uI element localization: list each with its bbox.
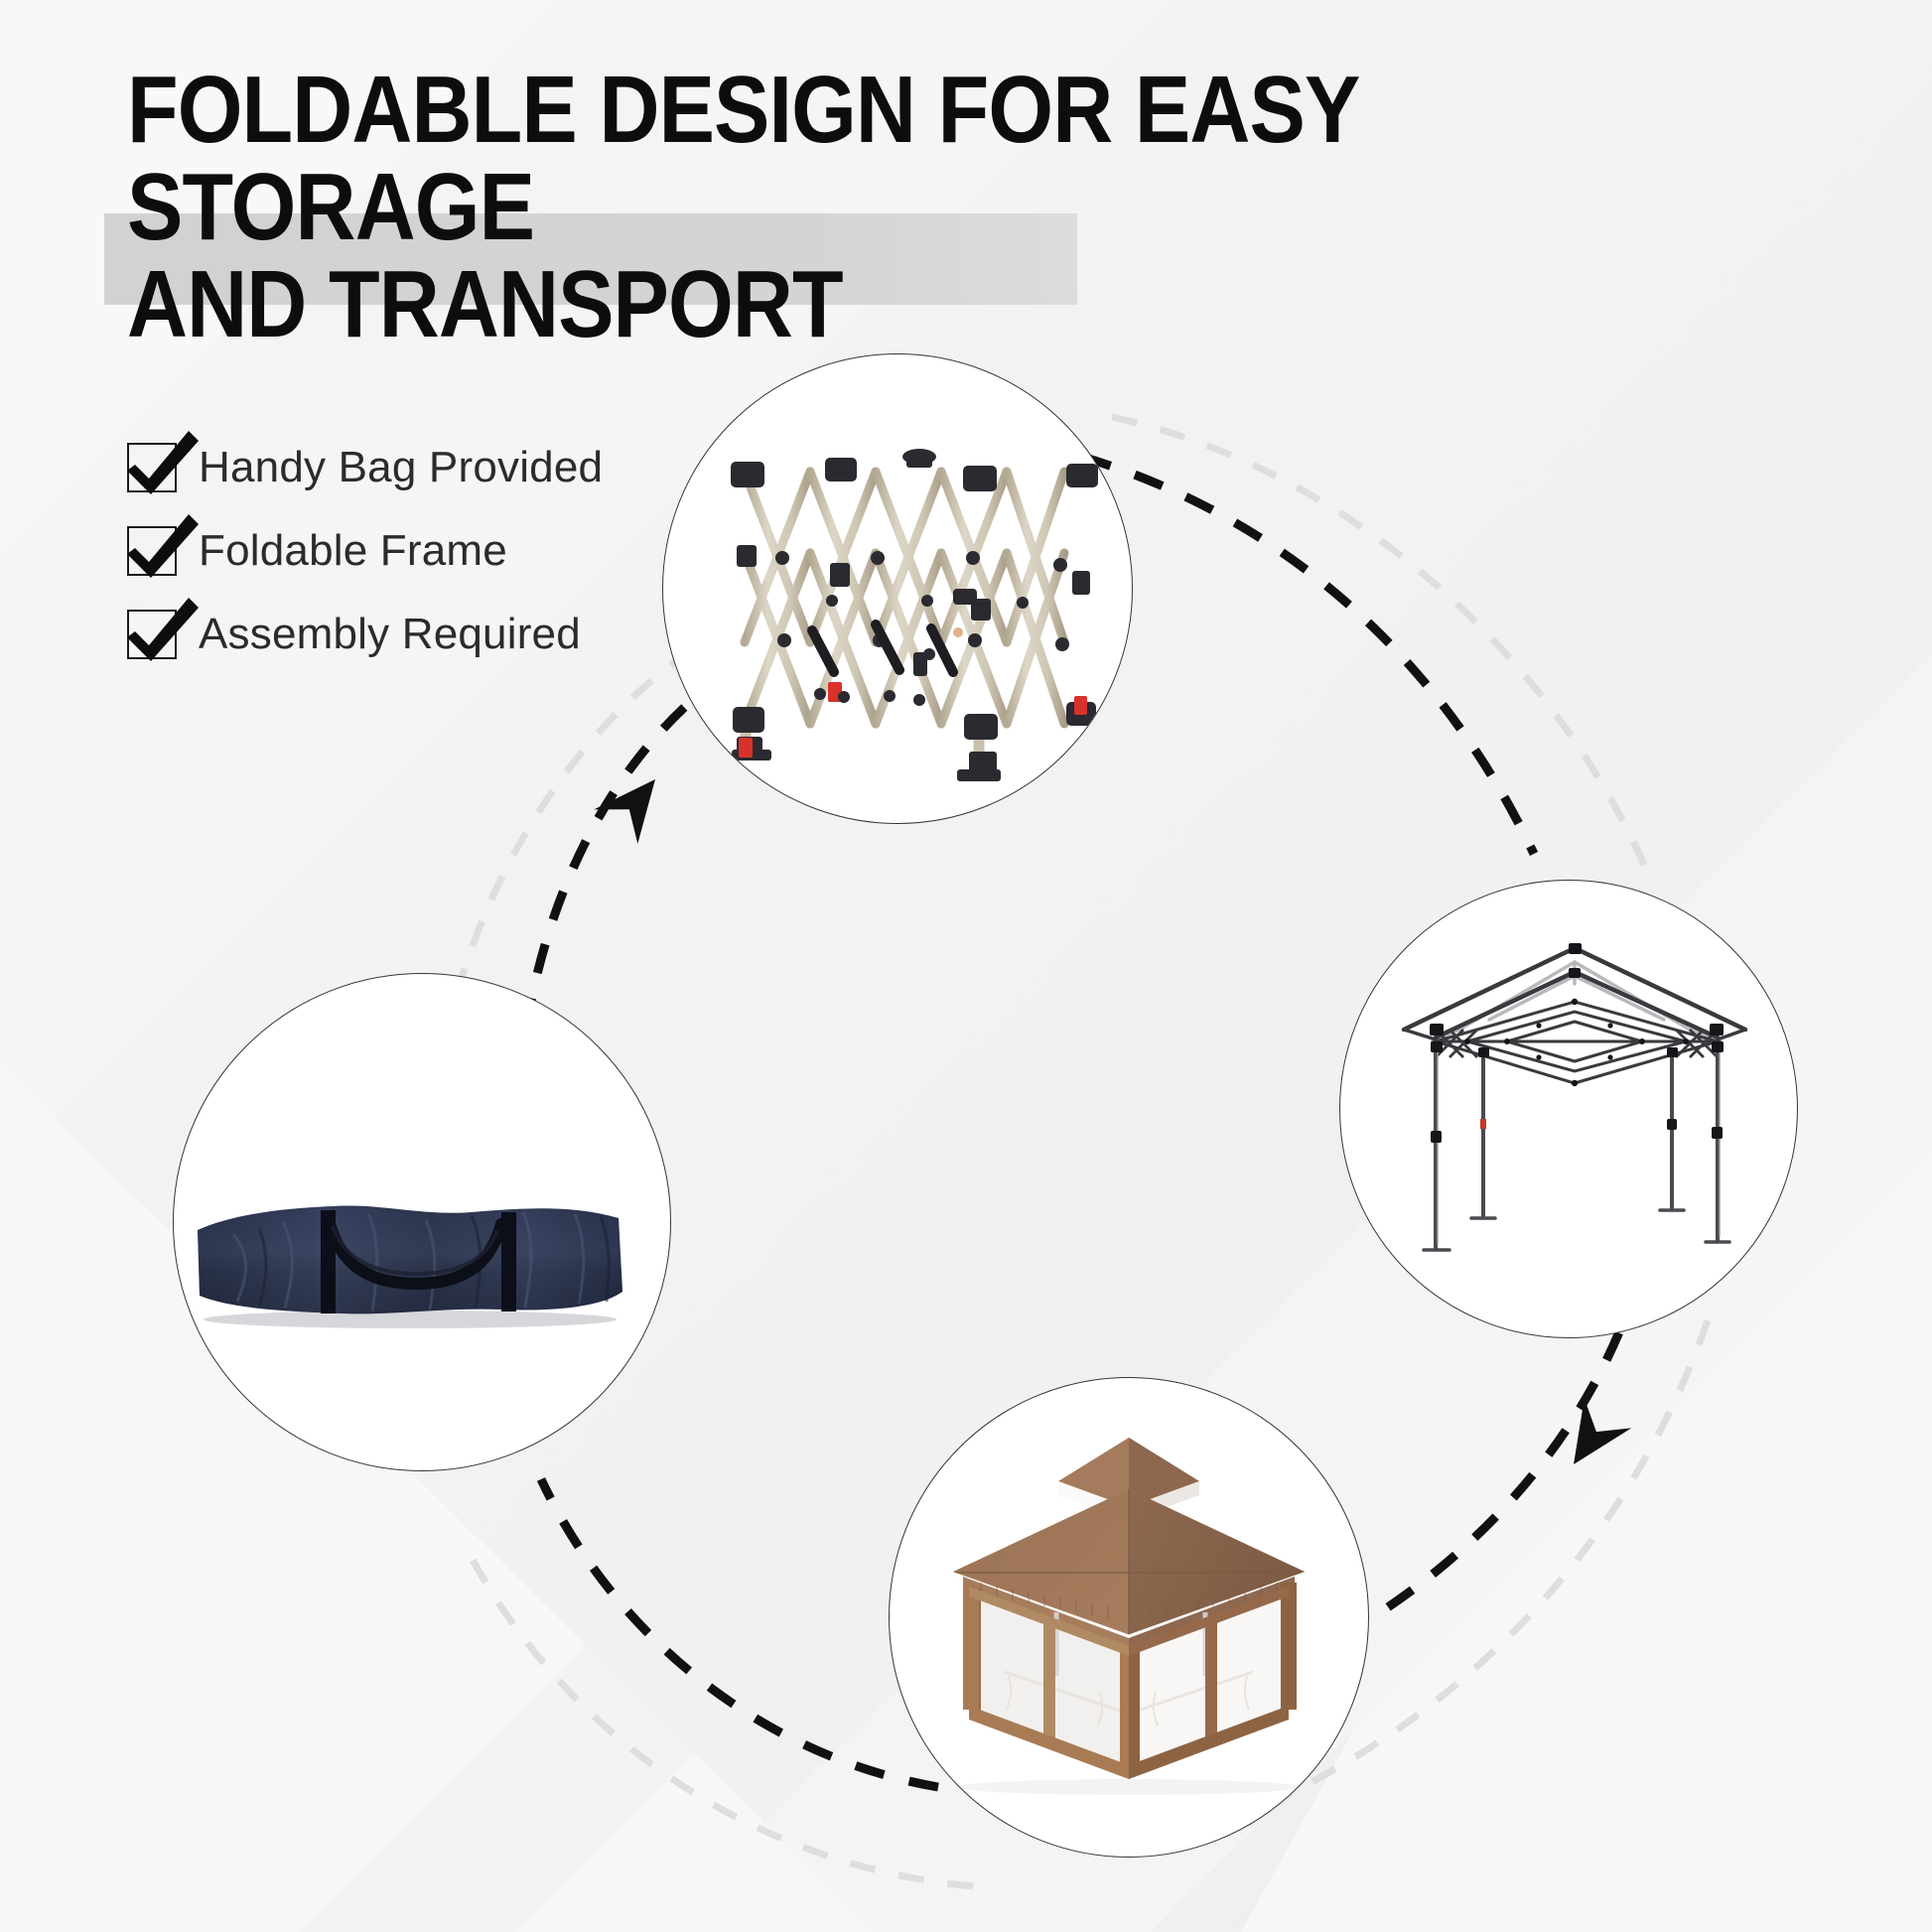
infographic-root: FOLDABLE DESIGN FOR EASY STORAGE AND TRA… (0, 0, 1932, 1932)
checkbox-checked-icon[interactable] (127, 443, 177, 492)
finished-gazebo-circle (889, 1377, 1369, 1858)
list-item: Assembly Required (127, 594, 603, 675)
finished-gazebo-illustration (890, 1378, 1368, 1857)
feature-label: Foldable Frame (199, 526, 507, 576)
feature-checklist: Handy Bag Provided Foldable Frame Assemb… (127, 427, 603, 677)
erected-frame-circle (1339, 880, 1798, 1338)
checkbox-checked-icon[interactable] (127, 610, 177, 659)
erected-frame-illustration (1340, 881, 1797, 1337)
list-item: Handy Bag Provided (127, 427, 603, 508)
carry-bag-illustration (174, 974, 670, 1470)
folded-frame-circle (662, 353, 1133, 824)
checkbox-checked-icon[interactable] (127, 526, 177, 576)
page-title: FOLDABLE DESIGN FOR EASY STORAGE AND TRA… (127, 62, 1630, 353)
list-item: Foldable Frame (127, 510, 603, 592)
feature-label: Assembly Required (199, 610, 581, 659)
folded-frame-illustration (663, 354, 1132, 823)
feature-label: Handy Bag Provided (199, 443, 603, 492)
carry-bag-circle (173, 973, 671, 1471)
